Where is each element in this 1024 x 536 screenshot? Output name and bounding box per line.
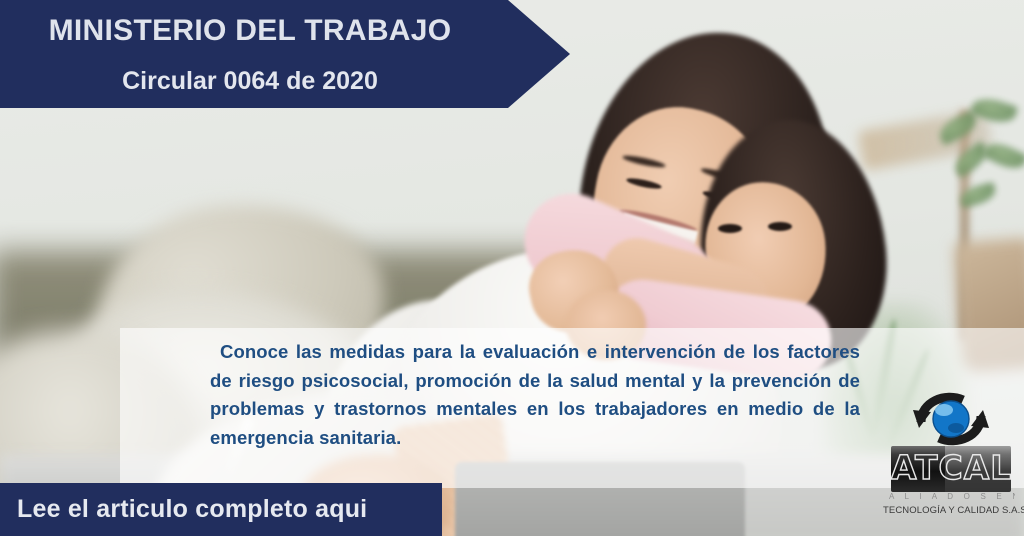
- page-subtitle: Circular 0064 de 2020: [0, 68, 500, 96]
- promo-poster: MINISTERIO DEL TRABAJO Circular 0064 de …: [0, 0, 1024, 536]
- refresh-arrows-sphere-icon: [897, 388, 1005, 450]
- child-eye: [768, 222, 792, 231]
- logo-tagline-secondary: TECNOLOGÍA Y CALIDAD S.A.S: [883, 505, 1019, 516]
- body-paragraph-text: Conoce las medidas para la evaluación e …: [210, 341, 860, 448]
- read-article-label: Lee el articulo completo aqui: [17, 495, 367, 524]
- atcal-logo: ATCAL A L I A D O S E N TECNOLOGÍA Y CAL…: [883, 388, 1019, 534]
- read-article-button[interactable]: Lee el articulo completo aqui: [0, 483, 442, 536]
- header-banner: MINISTERIO DEL TRABAJO Circular 0064 de …: [0, 0, 570, 108]
- atcal-wordmark: ATCAL: [891, 448, 1011, 487]
- child-eye: [718, 224, 742, 233]
- logo-tagline-primary: A L I A D O S E N: [889, 492, 1015, 501]
- page-title: MINISTERIO DEL TRABAJO: [0, 14, 500, 47]
- body-paragraph: Conoce las medidas para la evaluación e …: [210, 338, 860, 453]
- atcal-wordmark-plate: ATCAL: [891, 446, 1011, 492]
